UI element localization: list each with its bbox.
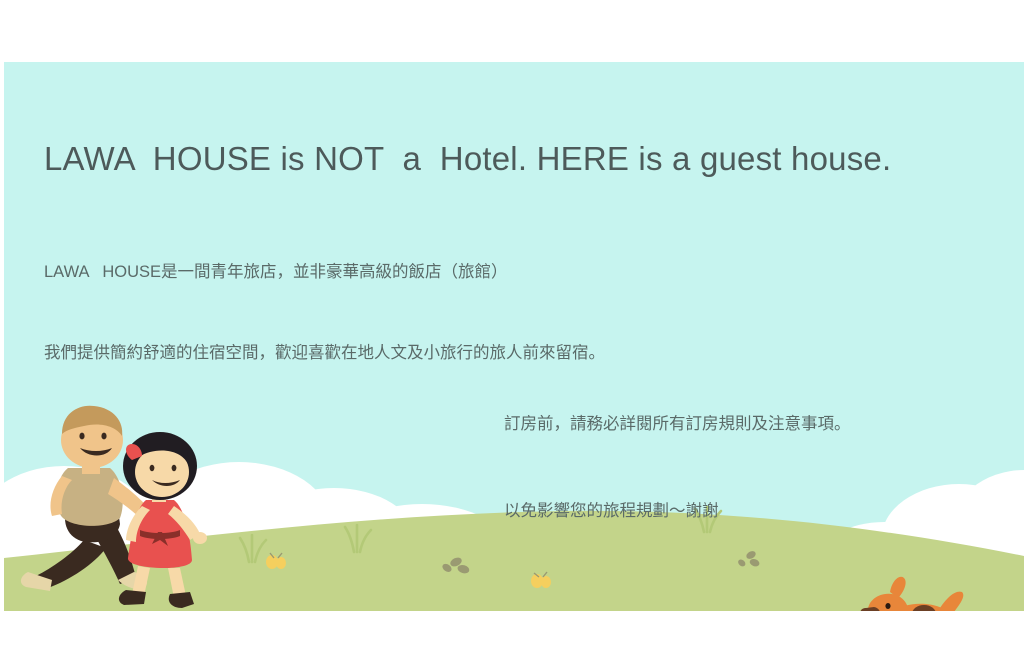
cloud-left-cluster [4, 462, 584, 611]
butterfly [266, 553, 286, 569]
page-root: LAWA HOUSE is NOT a Hotel. HERE is a gue… [0, 0, 1024, 672]
boy-leg-front [94, 526, 136, 584]
boy-arm-front [108, 478, 150, 520]
boy-mouth [80, 448, 112, 456]
dog-head [868, 594, 908, 611]
boy-hips [65, 510, 120, 542]
dog-tail [940, 592, 963, 611]
dog-ear [890, 577, 906, 598]
boy-leg-back [36, 540, 106, 588]
butterfly-antenna [270, 553, 282, 558]
butterfly-wing [449, 556, 463, 568]
cloud-puff [76, 484, 232, 596]
dog-body [884, 604, 950, 611]
boy-hand [142, 509, 158, 523]
butterfly-wing [266, 555, 278, 569]
boy-figure [21, 406, 158, 591]
butterfly-wing [441, 562, 453, 573]
girl-hand [193, 532, 207, 544]
girl-shoe-back [119, 590, 146, 605]
boy-neck [82, 460, 100, 474]
cloud-puff [147, 462, 331, 586]
girl-mouth [152, 480, 180, 486]
boy-shoe-back [21, 572, 52, 591]
cloud-puff [4, 466, 154, 598]
dog-figure [860, 577, 963, 611]
butterfly-wing [457, 564, 471, 575]
cloud-base [4, 557, 564, 611]
booking-notice-block: 訂房前，請務必詳閱所有訂房規則及注意事項。 以免影響您的旅程規劃～謝謝 [504, 352, 851, 584]
cloud-puff [252, 488, 416, 592]
page-headline: LAWA HOUSE is NOT a Hotel. HERE is a gue… [44, 140, 891, 178]
girl-hair-bow [126, 444, 142, 460]
boy-eye [101, 433, 106, 440]
girl-fringe [134, 434, 188, 464]
dog-eye [885, 603, 890, 609]
girl-dress [128, 500, 192, 568]
cloud-base [824, 572, 1024, 611]
dog-body-patch [912, 605, 936, 611]
butterfly-wing [276, 557, 286, 569]
notice-line-1: 訂房前，請務必詳閱所有訂房規則及注意事項。 [504, 410, 851, 439]
boy-arm-back [50, 476, 72, 516]
girl-eye [172, 465, 177, 471]
girl-shoe-front [169, 592, 194, 608]
girl-arm-back [126, 506, 150, 542]
girl-eye [150, 465, 155, 471]
cloud-puff [881, 484, 1024, 596]
grass-tuft [240, 535, 266, 562]
girl-neck [152, 490, 166, 502]
content-card: LAWA HOUSE is NOT a Hotel. HERE is a gue… [4, 62, 1024, 611]
girl-figure [119, 432, 207, 608]
girl-arm-front [168, 506, 200, 540]
cloud-puff [332, 504, 512, 604]
boy-shoe-front [118, 572, 147, 589]
girl-ribbon [140, 530, 180, 539]
cloud-puff [950, 470, 1024, 594]
notice-line-2: 以免影響您的旅程規劃～謝謝 [504, 497, 851, 526]
girl-leg-back [132, 566, 150, 596]
girl-head [135, 447, 189, 497]
butterfly-pair [441, 556, 470, 575]
intro-line-1: LAWA HOUSE是一間青年旅店，並非豪華高級的飯店（旅館） [44, 259, 605, 286]
boy-eye [79, 433, 84, 440]
boy-shirt [57, 468, 123, 526]
grass-tuft [345, 525, 371, 552]
girl-ribbon-knot [152, 532, 168, 546]
girl-hair-back [123, 432, 197, 500]
dog-snout [860, 607, 880, 611]
girl-leg-front [168, 568, 186, 598]
